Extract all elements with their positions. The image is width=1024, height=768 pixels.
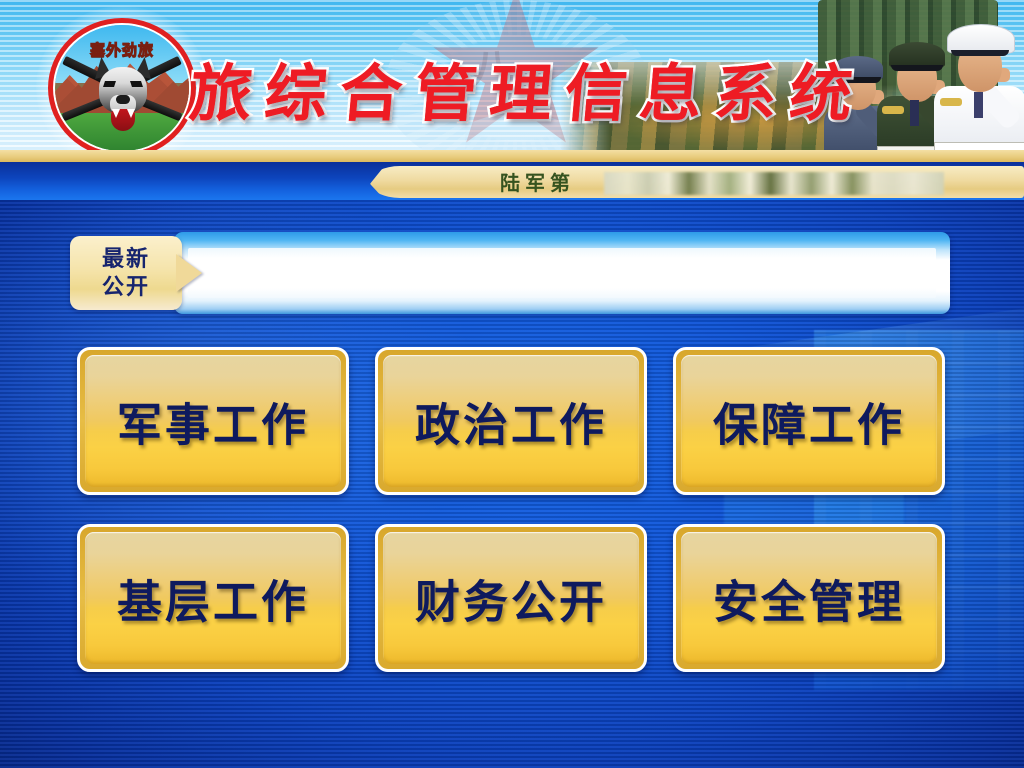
latest-disclosure-ticker[interactable]: 最新 公开 [70,232,950,314]
page-title-fill: 旅综合管理信息系统 [186,44,935,144]
right-arrow-icon [176,254,202,292]
menu-button-label: 基层工作 [80,566,346,631]
serviceman-navy [934,12,1024,172]
wolf-icon [93,59,153,133]
menu-button-label: 政治工作 [378,389,644,454]
tag-label-line1: 最新 [102,247,150,272]
unit-subtitle-redacted-block [604,172,944,195]
menu-button-grassroots-work[interactable]: 基层工作 [77,524,349,672]
unit-subtitle: 陆军第 [500,170,575,196]
menu-button-safety-management[interactable]: 安全管理 [673,524,945,672]
ticker-message-text [198,248,926,298]
menu-button-political-work[interactable]: 政治工作 [375,347,647,495]
menu-button-military-work[interactable]: 军事工作 [77,347,349,495]
latest-disclosure-tag[interactable]: 最新 公开 [70,236,182,310]
page-header: 八一 [0,0,1024,172]
menu-button-label: 安全管理 [676,566,942,631]
header-gold-divider [0,150,1024,162]
menu-button-finance-public[interactable]: 财务公开 [375,524,647,672]
main-menu-grid: 军事工作 政治工作 保障工作 基层工作 财务公开 安全管理 [77,347,945,667]
menu-button-label: 保障工作 [676,389,942,454]
app-screen: 八一 [0,0,1024,768]
ticker-message-area[interactable] [188,248,936,298]
badge-motto-text: 塞外劲旅 [55,39,189,60]
menu-button-label: 军事工作 [80,389,346,454]
wolf-head-badge-icon: 塞外劲旅 [48,18,196,158]
menu-button-support-work[interactable]: 保障工作 [673,347,945,495]
tag-label-line2: 公开 [102,275,150,300]
menu-button-label: 财务公开 [378,566,644,631]
tag-label: 最新 公开 [70,246,182,302]
